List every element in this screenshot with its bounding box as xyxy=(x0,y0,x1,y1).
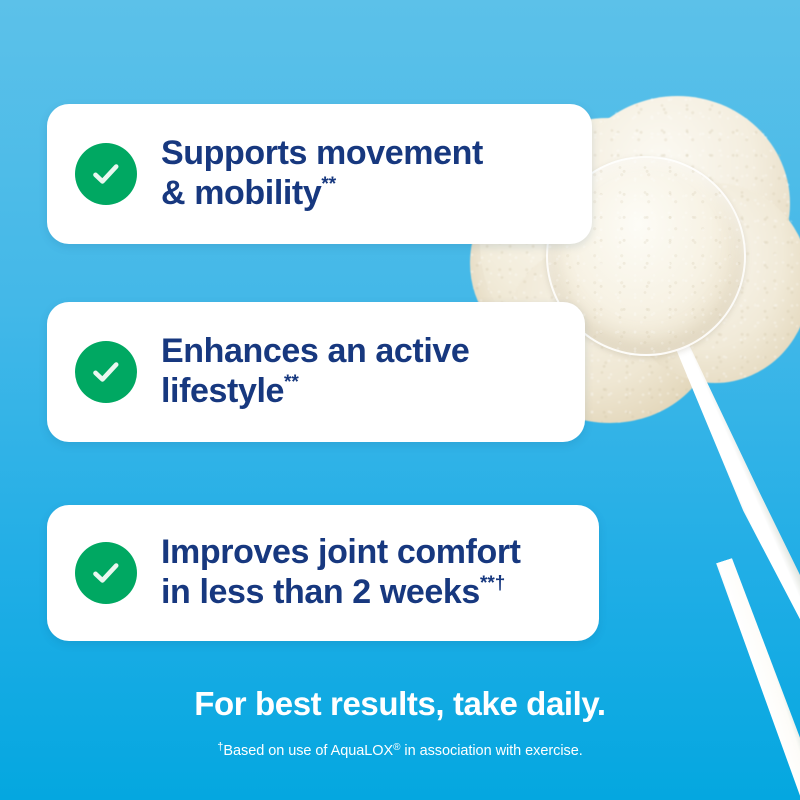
benefit-line-2: in less than 2 weeks xyxy=(161,573,480,611)
benefit-line-1: Improves joint comfort xyxy=(161,533,521,571)
benefit-card-supports-movement: Supports movement & mobility** xyxy=(47,104,592,244)
powder-grain-texture xyxy=(620,183,800,383)
benefit-line-2: lifestyle xyxy=(161,372,284,410)
benefit-card-enhances-active-lifestyle: Enhances an active lifestyle** xyxy=(47,302,585,442)
footnote-text-part1: Based on use of AquaLOX xyxy=(223,743,393,759)
footer: For best results, take daily. †Based on … xyxy=(0,686,800,759)
footer-headline: For best results, take daily. xyxy=(0,686,800,722)
check-icon xyxy=(75,143,137,205)
benefit-text: Enhances an active lifestyle** xyxy=(161,332,469,412)
promo-graphic: Supports movement & mobility** Enhances … xyxy=(0,0,800,800)
powder-blob xyxy=(565,96,790,311)
benefit-card-improves-joint-comfort: Improves joint comfort in less than 2 we… xyxy=(47,505,599,641)
benefit-superscript: **† xyxy=(480,573,505,594)
benefit-superscript: ** xyxy=(321,174,336,195)
scoop-handle xyxy=(657,322,800,722)
powder-grain-texture xyxy=(565,96,790,311)
footnote-text-part2: in association with exercise. xyxy=(400,743,582,759)
benefit-text: Supports movement & mobility** xyxy=(161,134,483,214)
check-icon xyxy=(75,341,137,403)
benefit-superscript: ** xyxy=(284,372,299,393)
powder-blob xyxy=(620,183,800,383)
check-icon xyxy=(75,542,137,604)
benefit-line-2: & mobility xyxy=(161,174,321,212)
benefit-text: Improves joint comfort in less than 2 we… xyxy=(161,533,521,613)
benefit-line-1: Supports movement xyxy=(161,134,483,172)
scoop-handle-lower xyxy=(701,552,800,800)
footer-footnote: †Based on use of AquaLOX® in association… xyxy=(0,741,800,759)
benefit-line-1: Enhances an active xyxy=(161,332,469,370)
